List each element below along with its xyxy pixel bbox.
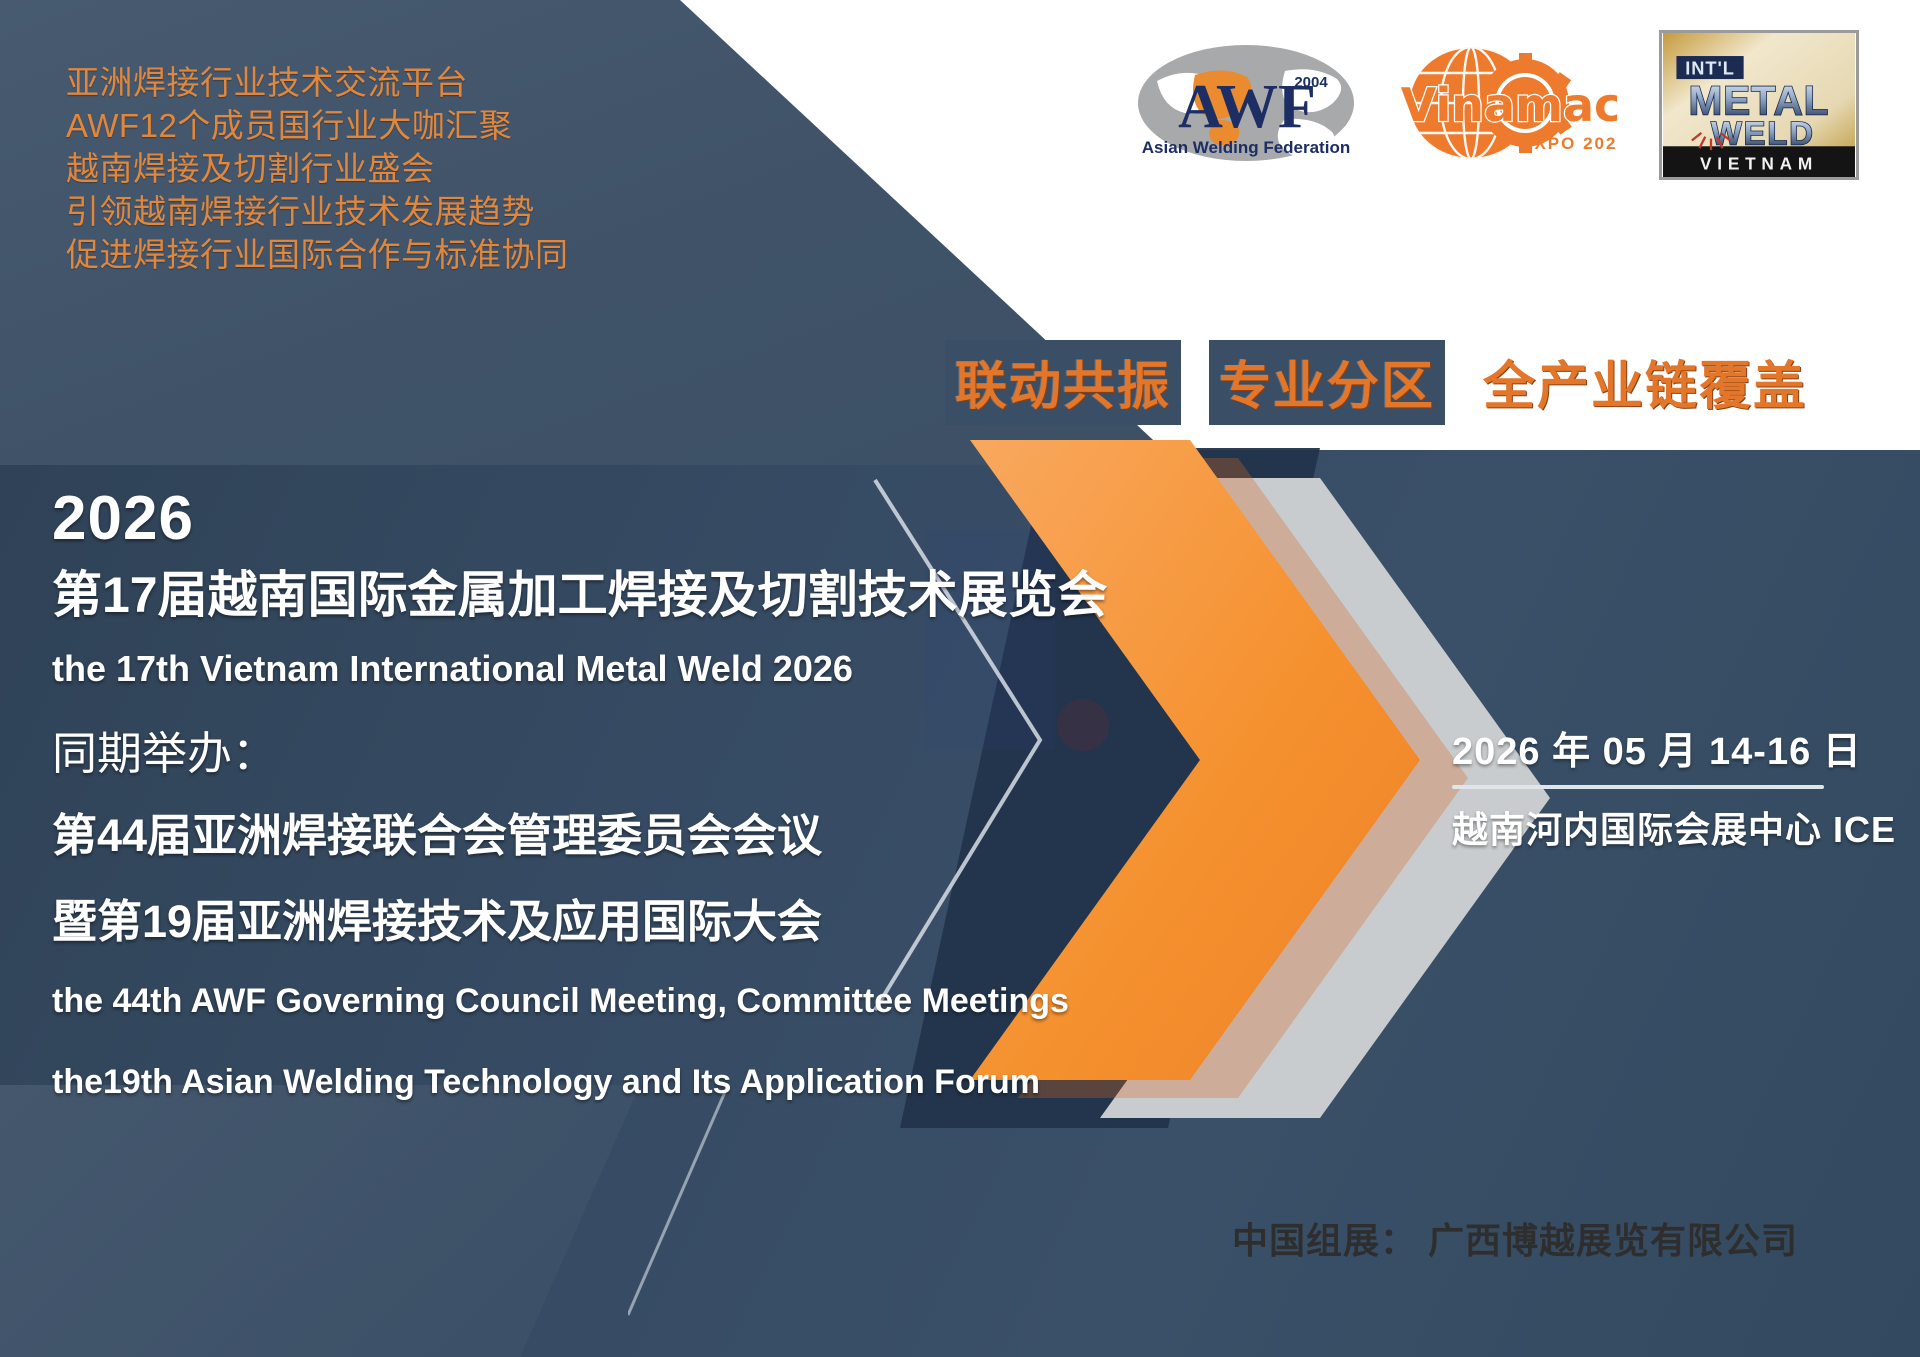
awf-logo[interactable]: AWF 2004 Asian Welding Federation — [1135, 41, 1357, 169]
event-year: 2026 — [52, 488, 1108, 550]
mw-line1: INT'L — [1685, 57, 1735, 78]
concurrent-en-1: the 44th AWF Governing Council Meeting, … — [52, 981, 1108, 1022]
slogan-2: 专业分区 — [1209, 340, 1445, 425]
awf-year: 2004 — [1294, 74, 1328, 91]
main-text-block: 2026 第17届越南国际金属加工焊接及切割技术展览会 the 17th Vie… — [52, 488, 1108, 1103]
mw-line3: WELD — [1711, 114, 1815, 151]
tagline-4: 引领越南焊接行业技术发展趋势 — [66, 191, 569, 234]
event-venue: 越南河内国际会展中心 ICE — [1452, 801, 1896, 853]
date-divider — [1452, 785, 1824, 789]
tagline-2: AWF12个成员国行业大咖汇聚 — [66, 105, 569, 148]
slogan-1: 联动共振 — [945, 340, 1181, 425]
concurrent-label: 同期举办： — [52, 728, 1108, 780]
vinamac-wordmark: Vinamac — [1401, 78, 1617, 132]
vinamac-logo[interactable]: Vinamac EXPO 2026 — [1399, 45, 1617, 165]
tagline-1: 亚洲焊接行业技术交流平台 — [66, 62, 569, 105]
exhibition-poster: 亚洲焊接行业技术交流平台 AWF12个成员国行业大咖汇聚 越南焊接及切割行业盛会… — [0, 0, 1920, 1357]
event-date: 2026 年 05 月 14-16 日 — [1452, 720, 1896, 785]
slogan-3: 全产业链覆盖 — [1473, 340, 1817, 425]
mw-line4: VIETNAM — [1700, 153, 1818, 173]
concurrent-en-2: the19th Asian Welding Technology and Its… — [52, 1062, 1108, 1103]
event-title-en: the 17th Vietnam International Metal Wel… — [52, 647, 1108, 690]
organizer-line: 中国组展： 广西博越展览有限公司 — [1232, 1212, 1798, 1264]
vinamac-sub: EXPO 2026 — [1521, 134, 1617, 153]
metal-weld-vietnam-logo[interactable]: INT'L METAL WELD VIETNAM — [1659, 30, 1859, 180]
tagline-list: 亚洲焊接行业技术交流平台 AWF12个成员国行业大咖汇聚 越南焊接及切割行业盛会… — [66, 62, 569, 276]
event-title-cn: 第17届越南国际金属加工焊接及切割技术展览会 — [52, 566, 1108, 625]
event-date-venue-block: 2026 年 05 月 14-16 日 越南河内国际会展中心 ICE — [1452, 720, 1896, 853]
tagline-3: 越南焊接及切割行业盛会 — [66, 148, 569, 191]
concurrent-cn-1: 第44届亚洲焊接联合会管理委员会会议 — [52, 810, 1108, 862]
tagline-5: 促进焊接行业国际合作与标准协同 — [66, 234, 569, 277]
awf-caption: Asian Welding Federation — [1142, 138, 1350, 157]
logo-row: AWF 2004 Asian Welding Federation — [1135, 30, 1859, 180]
concurrent-cn-2: 暨第19届亚洲焊接技术及应用国际大会 — [52, 896, 1108, 948]
slogan-row: 联动共振 专业分区 全产业链覆盖 — [945, 340, 1817, 425]
